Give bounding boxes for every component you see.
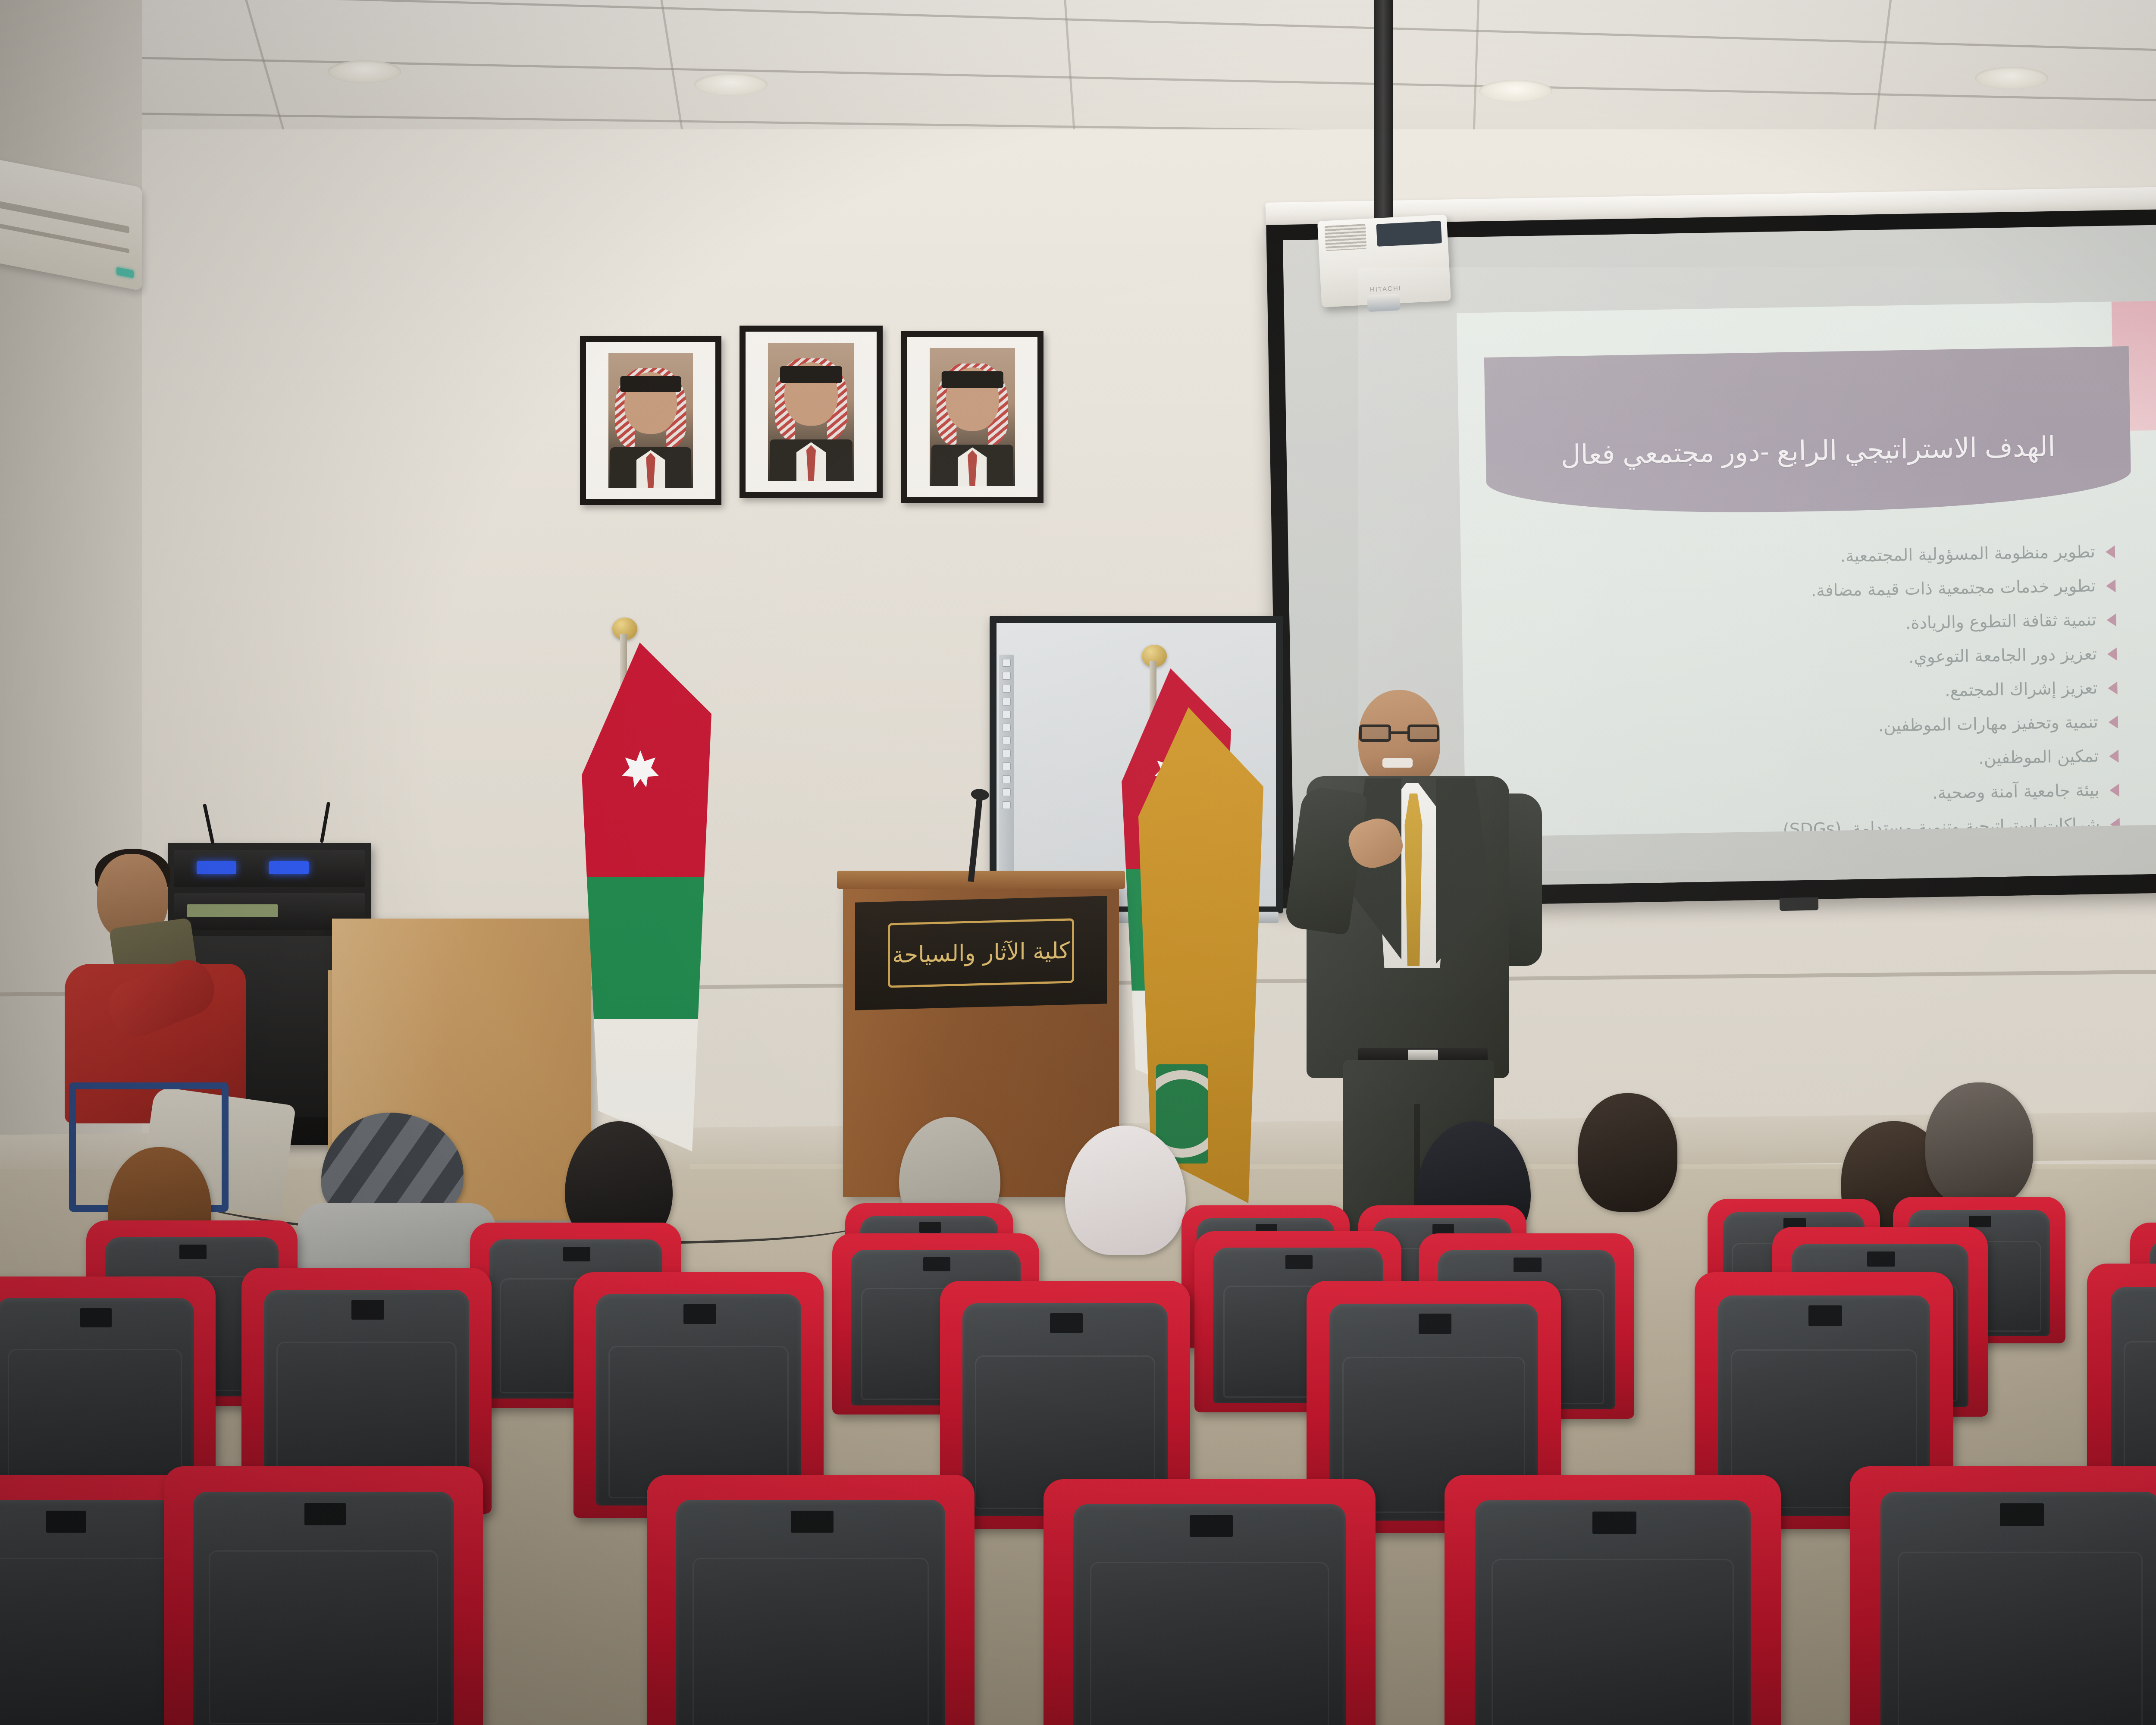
projector-lens [1367, 294, 1401, 312]
lectern-name-plate: كلية الآثار والسياحة [855, 896, 1107, 1010]
attendee-gray-hair [1925, 1082, 2033, 1207]
projector-brand-label: HITACHI [1321, 282, 1450, 296]
presenter-mouth [1382, 758, 1413, 768]
projector-mount-pole [1374, 0, 1393, 241]
belt-buckle [1408, 1050, 1438, 1061]
recessed-downlight [1479, 80, 1552, 102]
whiteboard-tool-icon[interactable] [1002, 750, 1011, 757]
bullet-triangle-icon [2109, 715, 2118, 728]
lectern-top-surface [837, 871, 1125, 889]
king-abdullah-ii-portrait [740, 326, 883, 498]
royal-portraits-group [580, 326, 1046, 507]
whiteboard-tool-icon[interactable] [1002, 685, 1011, 693]
auditorium-seat[interactable] [164, 1466, 483, 1725]
projected-slide: الهدف الاستراتيجي الرابع -دور مجتمعي فعا… [1457, 300, 2156, 837]
whiteboard-tool-icon[interactable] [1002, 775, 1011, 783]
lecture-hall-scene: الهدف الاستراتيجي الرابع -دور مجتمعي فعا… [0, 0, 2156, 1725]
whiteboard-tool-icon[interactable] [1002, 737, 1011, 744]
bullet-triangle-icon [2109, 750, 2119, 762]
ceiling [0, 0, 2156, 142]
bullet-triangle-icon [2106, 613, 2116, 626]
ac-indicator-led [116, 267, 134, 278]
projector-vent-grille [1325, 224, 1367, 251]
eyeglasses-icon [1359, 724, 1439, 742]
bullet-triangle-icon [2110, 818, 2120, 831]
recessed-downlight [328, 60, 401, 83]
bullet-triangle-icon [2107, 647, 2117, 660]
whiteboard-tool-icon[interactable] [1002, 724, 1011, 731]
whiteboard-tool-icon[interactable] [1002, 659, 1011, 667]
whiteboard-toolbar[interactable] [999, 655, 1014, 888]
bullet-triangle-icon [2108, 681, 2118, 694]
whiteboard-tool-icon[interactable] [1002, 711, 1011, 718]
king-hussein-portrait [580, 336, 721, 505]
crown-prince-hussein-portrait [901, 331, 1044, 503]
slide-bullet-list: تطوير منظومة المسؤولية المجتمعية. تطوير … [1563, 534, 2120, 837]
ceiling-tile-grid [0, 0, 2156, 142]
whiteboard-tool-icon[interactable] [1002, 762, 1011, 770]
whiteboard-tool-icon[interactable] [1002, 801, 1011, 809]
bullet-triangle-icon [2109, 784, 2119, 797]
whiteboard-tool-icon[interactable] [1002, 672, 1011, 680]
ceiling-projector: HITACHI [1317, 214, 1451, 307]
slide-title-band: الهدف الاستراتيجي الرابع -دور مجتمعي فعا… [1484, 346, 2131, 517]
auditorium-seat[interactable] [1850, 1466, 2156, 1725]
slide-title: الهدف الاستراتيجي الرابع -دور مجتمعي فعا… [1484, 346, 2131, 517]
bullet-triangle-icon [2106, 579, 2116, 592]
receiver-led-display [269, 861, 309, 874]
bullet-triangle-icon [2106, 545, 2115, 558]
whiteboard-tool-icon[interactable] [1002, 698, 1011, 706]
recessed-downlight [694, 73, 768, 96]
whiteboard-tool-icon[interactable] [1002, 788, 1011, 796]
auditorium-seat[interactable] [647, 1475, 975, 1725]
auditorium-seat[interactable] [1044, 1479, 1376, 1725]
projector-port-panel [1376, 221, 1442, 247]
auditorium-seat[interactable] [1445, 1475, 1781, 1725]
attendee-dark-hair-1 [1578, 1093, 1677, 1212]
recessed-downlight [1975, 67, 2048, 89]
university-flag [1138, 707, 1263, 1203]
lectern-sign-text: كلية الآثار والسياحة [892, 938, 1069, 969]
screen-pull-handle[interactable] [1780, 897, 1819, 911]
